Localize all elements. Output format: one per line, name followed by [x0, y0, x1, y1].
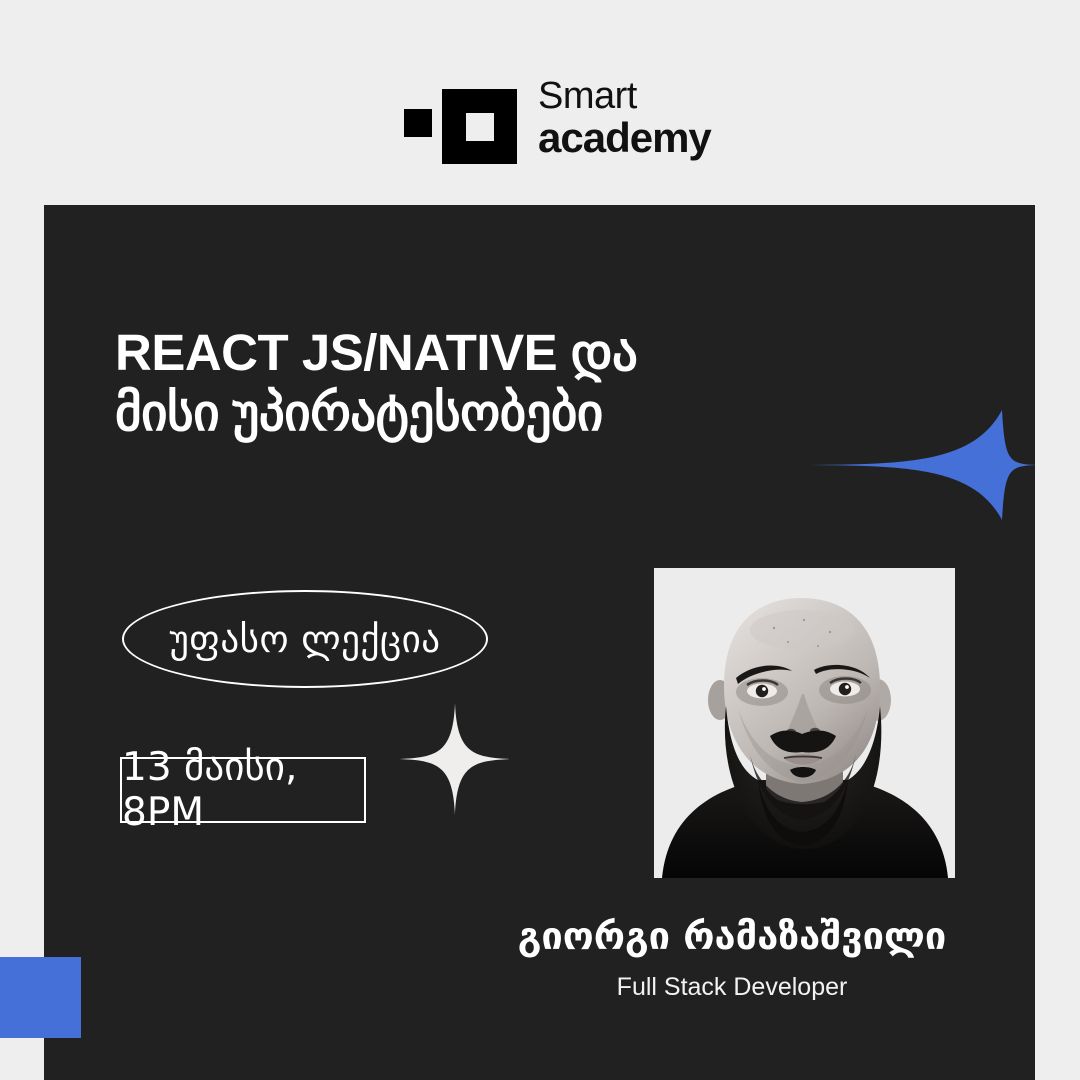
speaker-photo: [654, 568, 955, 878]
event-date-label: 13 მაისი, 8PM: [122, 745, 364, 835]
logo-wordmark: Smart academy: [538, 77, 711, 159]
poster-canvas: Smart academy REACT JS/NATIVE და მისი უპ…: [0, 0, 1080, 1080]
speaker-role: Full Stack Developer: [459, 973, 1005, 1002]
dark-content-panel: REACT JS/NATIVE და მისი უპირატესობები უფ…: [44, 205, 1035, 1080]
free-lecture-badge-label: უფასო ლექცია: [169, 618, 440, 661]
logo-small-square-icon: [404, 109, 432, 137]
logo-inner-square-icon: [466, 113, 494, 141]
logo-word-smart: Smart: [538, 77, 711, 115]
smart-academy-logo-mark: [404, 82, 500, 154]
free-lecture-badge: უფასო ლექცია: [122, 590, 488, 688]
smart-academy-logo: Smart academy: [404, 78, 684, 158]
blue-square-accent: [0, 957, 81, 1038]
event-date-box: 13 მაისი, 8PM: [120, 757, 366, 823]
page-title-line-2: მისი უპირატესობები: [115, 383, 955, 443]
page-title-line-1: REACT JS/NATIVE და: [115, 323, 955, 383]
white-sparkle-icon: [399, 703, 511, 815]
page-title: REACT JS/NATIVE და მისი უპირატესობები: [115, 323, 955, 442]
logo-word-academy: academy: [538, 117, 711, 159]
speaker-name: გიორგი რამაზაშვილი: [459, 917, 1005, 957]
